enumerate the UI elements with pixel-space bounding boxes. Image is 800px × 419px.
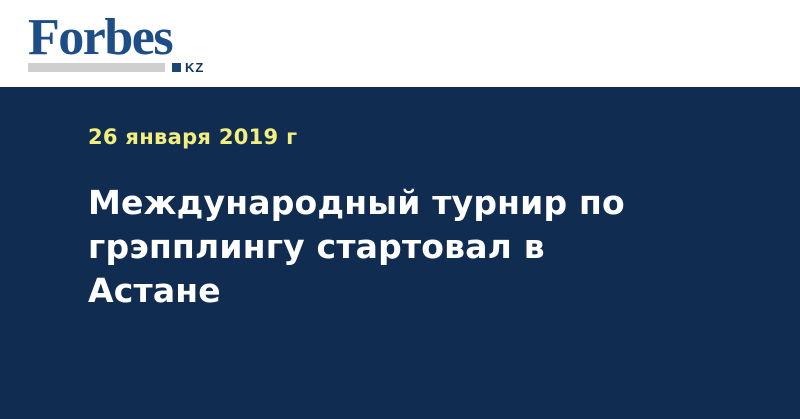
article-title[interactable]: Международный турнир по грэпплингу старт… [88, 181, 668, 313]
logo-kz-suffix: KZ [185, 61, 204, 74]
article-card: Forbes KZ 26 января 2019 г Международный… [0, 0, 800, 419]
article-hero: 26 января 2019 г Международный турнир по… [0, 87, 800, 419]
logo-underline-rule [28, 63, 165, 72]
article-date: 26 января 2019 г [88, 125, 297, 149]
square-bullet-icon [172, 63, 181, 72]
forbes-kz-logo[interactable]: Forbes KZ [28, 12, 218, 74]
site-header: Forbes KZ [0, 0, 800, 87]
forbes-wordmark: Forbes [28, 12, 172, 64]
